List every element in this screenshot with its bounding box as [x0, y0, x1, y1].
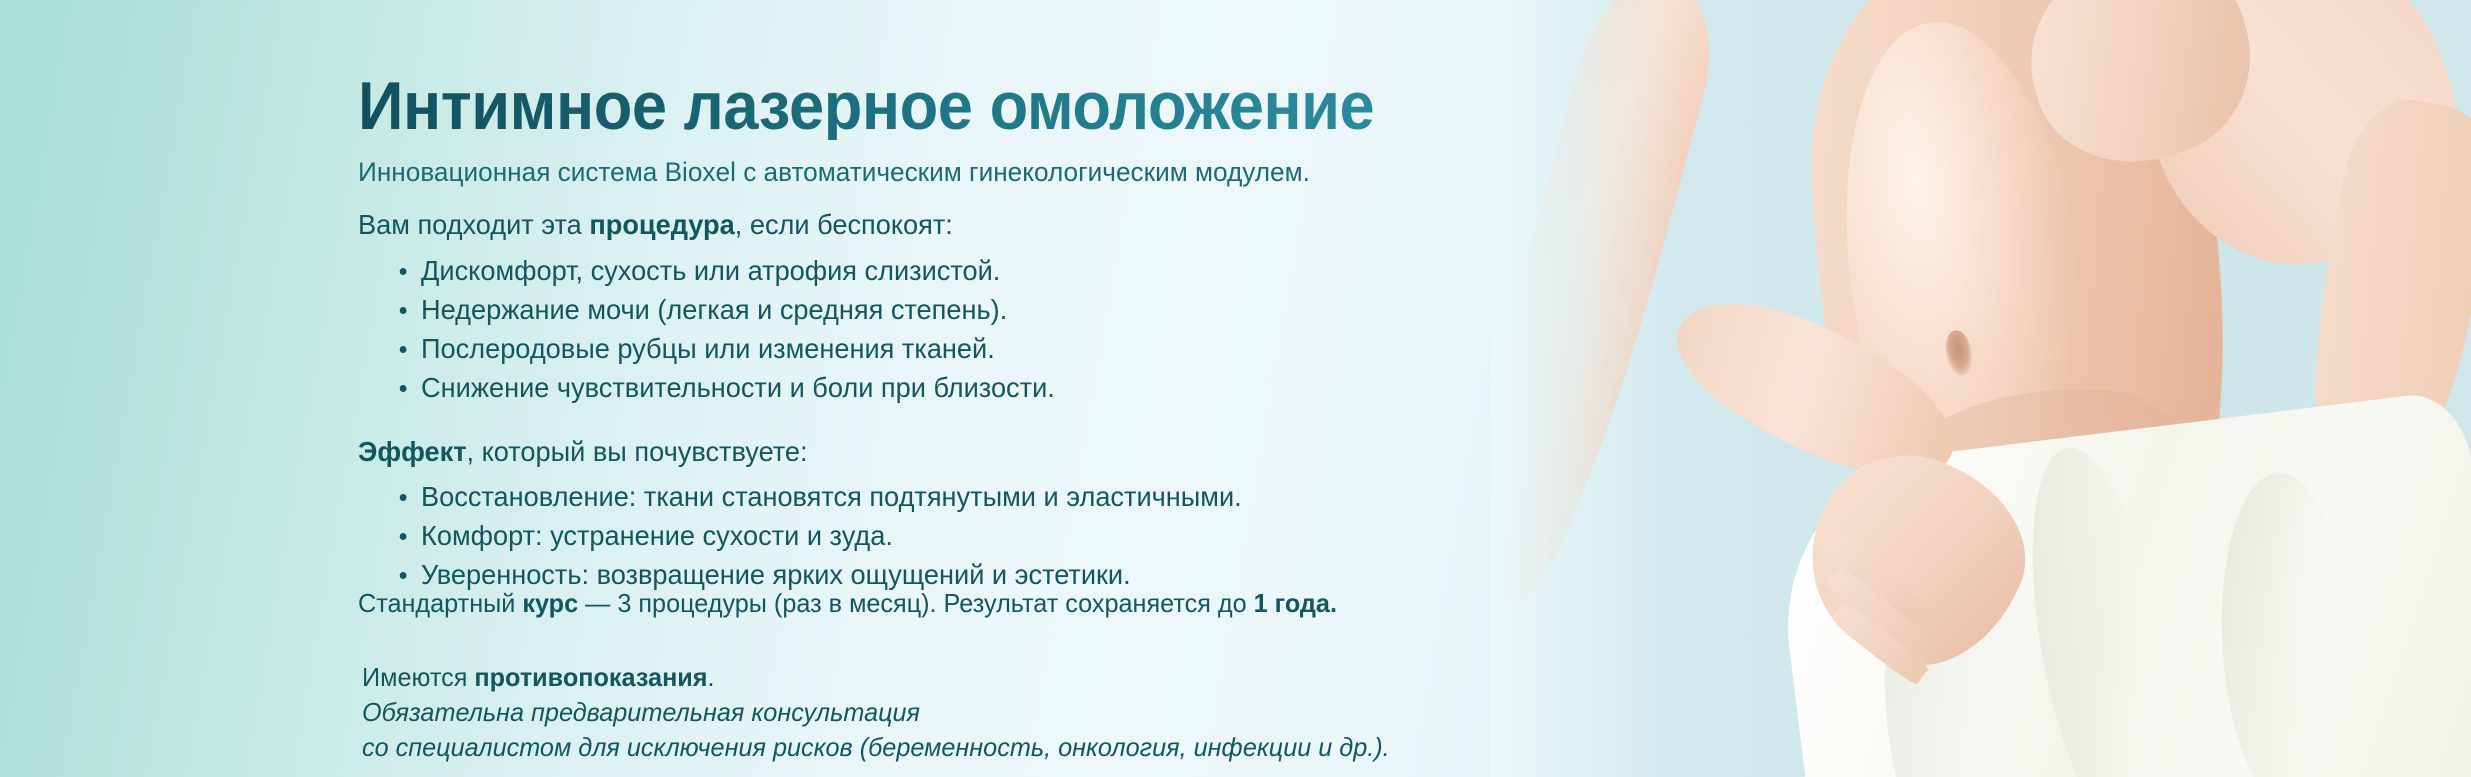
list-item: Дискомфорт, сухость или атрофия слизисто…: [390, 251, 1055, 290]
disclaimer-line-1: Обязательна предварительная консультация: [362, 697, 920, 728]
indications-lead: Вам подходит эта процедура, если беспоко…: [358, 209, 953, 241]
course-part1: Стандартный: [358, 588, 522, 618]
indications-list: Дискомфорт, сухость или атрофия слизисто…: [390, 251, 1055, 407]
list-item: Послеродовые рубцы или изменения тканей.: [390, 329, 1055, 368]
banner-title: Интимное лазерное омоложение: [358, 72, 1374, 140]
effects-lead-suffix: , который вы почувствуете:: [467, 436, 808, 467]
banner-subtitle: Инновационная система Bioxel с автоматич…: [358, 157, 1310, 188]
warning-prefix: Имеются: [362, 662, 474, 692]
warning-suffix: .: [708, 662, 715, 692]
woman-torso-photo: [1491, 0, 2471, 777]
promo-banner: Интимное лазерное омоложение Инновационн…: [0, 0, 2471, 777]
contraindications-warning: Имеются противопоказания.: [362, 662, 715, 693]
course-bold1: курс: [522, 588, 578, 618]
disclaimer-line-2: со специалистом для исключения рисков (б…: [362, 732, 1390, 763]
effects-list: Восстановление: ткани становятся подтяну…: [390, 477, 1242, 594]
effects-lead: Эффект, который вы почувствуете:: [358, 436, 808, 468]
indications-lead-suffix: , если беспокоят:: [735, 209, 953, 240]
text-column: Интимное лазерное омоложение Инновационн…: [0, 0, 1500, 777]
photo-left-fade: [1491, 0, 1681, 777]
course-part2: — 3 процедуры (раз в месяц). Результат с…: [578, 588, 1254, 618]
indications-lead-prefix: Вам подходит эта: [358, 209, 589, 240]
course-bold2: 1 года.: [1254, 588, 1337, 618]
course-note: Стандартный курс — 3 процедуры (раз в ме…: [358, 588, 1337, 619]
indications-lead-bold: процедура: [589, 209, 734, 240]
warning-bold: противопоказания: [474, 662, 707, 692]
effects-lead-bold: Эффект: [358, 436, 467, 467]
list-item: Недержание мочи (легкая и средняя степен…: [390, 290, 1055, 329]
list-item: Восстановление: ткани становятся подтяну…: [390, 477, 1242, 516]
towel-fold-shape: [2214, 469, 2362, 777]
list-item: Снижение чувствительности и боли при бли…: [390, 368, 1055, 407]
towel-fold-shape: [2007, 437, 2195, 777]
list-item: Комфорт: устранение сухости и зуда.: [390, 516, 1242, 555]
